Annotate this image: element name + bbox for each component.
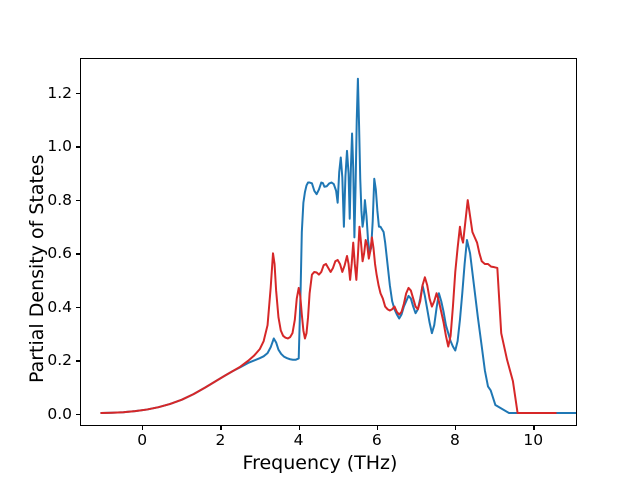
y-tick-mark: [76, 307, 80, 308]
y-tick-label: 1.0: [26, 137, 72, 155]
x-tick-mark: [299, 426, 300, 430]
y-tick-label: 1.2: [26, 84, 72, 102]
x-tick-label: 10: [523, 431, 543, 449]
x-tick-label: 0: [137, 431, 147, 449]
y-tick-mark: [76, 360, 80, 361]
y-tick-mark: [76, 200, 80, 201]
plot-area: [80, 58, 577, 426]
x-tick-mark: [455, 426, 456, 430]
x-axis-label: Frequency (THz): [0, 452, 640, 474]
line-series-1: [101, 79, 576, 413]
x-tick-label: 8: [450, 431, 460, 449]
x-tick-mark: [142, 426, 143, 430]
x-tick-mark: [220, 426, 221, 430]
y-tick-mark: [76, 146, 80, 147]
y-axis-label: Partial Density of States: [26, 154, 48, 383]
x-tick-mark: [377, 426, 378, 430]
y-tick-label: 0.0: [26, 405, 72, 423]
y-tick-mark: [76, 414, 80, 415]
y-tick-mark: [76, 253, 80, 254]
y-tick-mark: [76, 93, 80, 94]
x-tick-label: 2: [215, 431, 225, 449]
figure-canvas: 0246810 0.00.20.40.60.81.01.2 Frequency …: [0, 0, 640, 480]
x-tick-label: 4: [294, 431, 304, 449]
x-tick-mark: [533, 426, 534, 430]
chart-svg: [81, 59, 576, 425]
x-tick-label: 6: [372, 431, 382, 449]
